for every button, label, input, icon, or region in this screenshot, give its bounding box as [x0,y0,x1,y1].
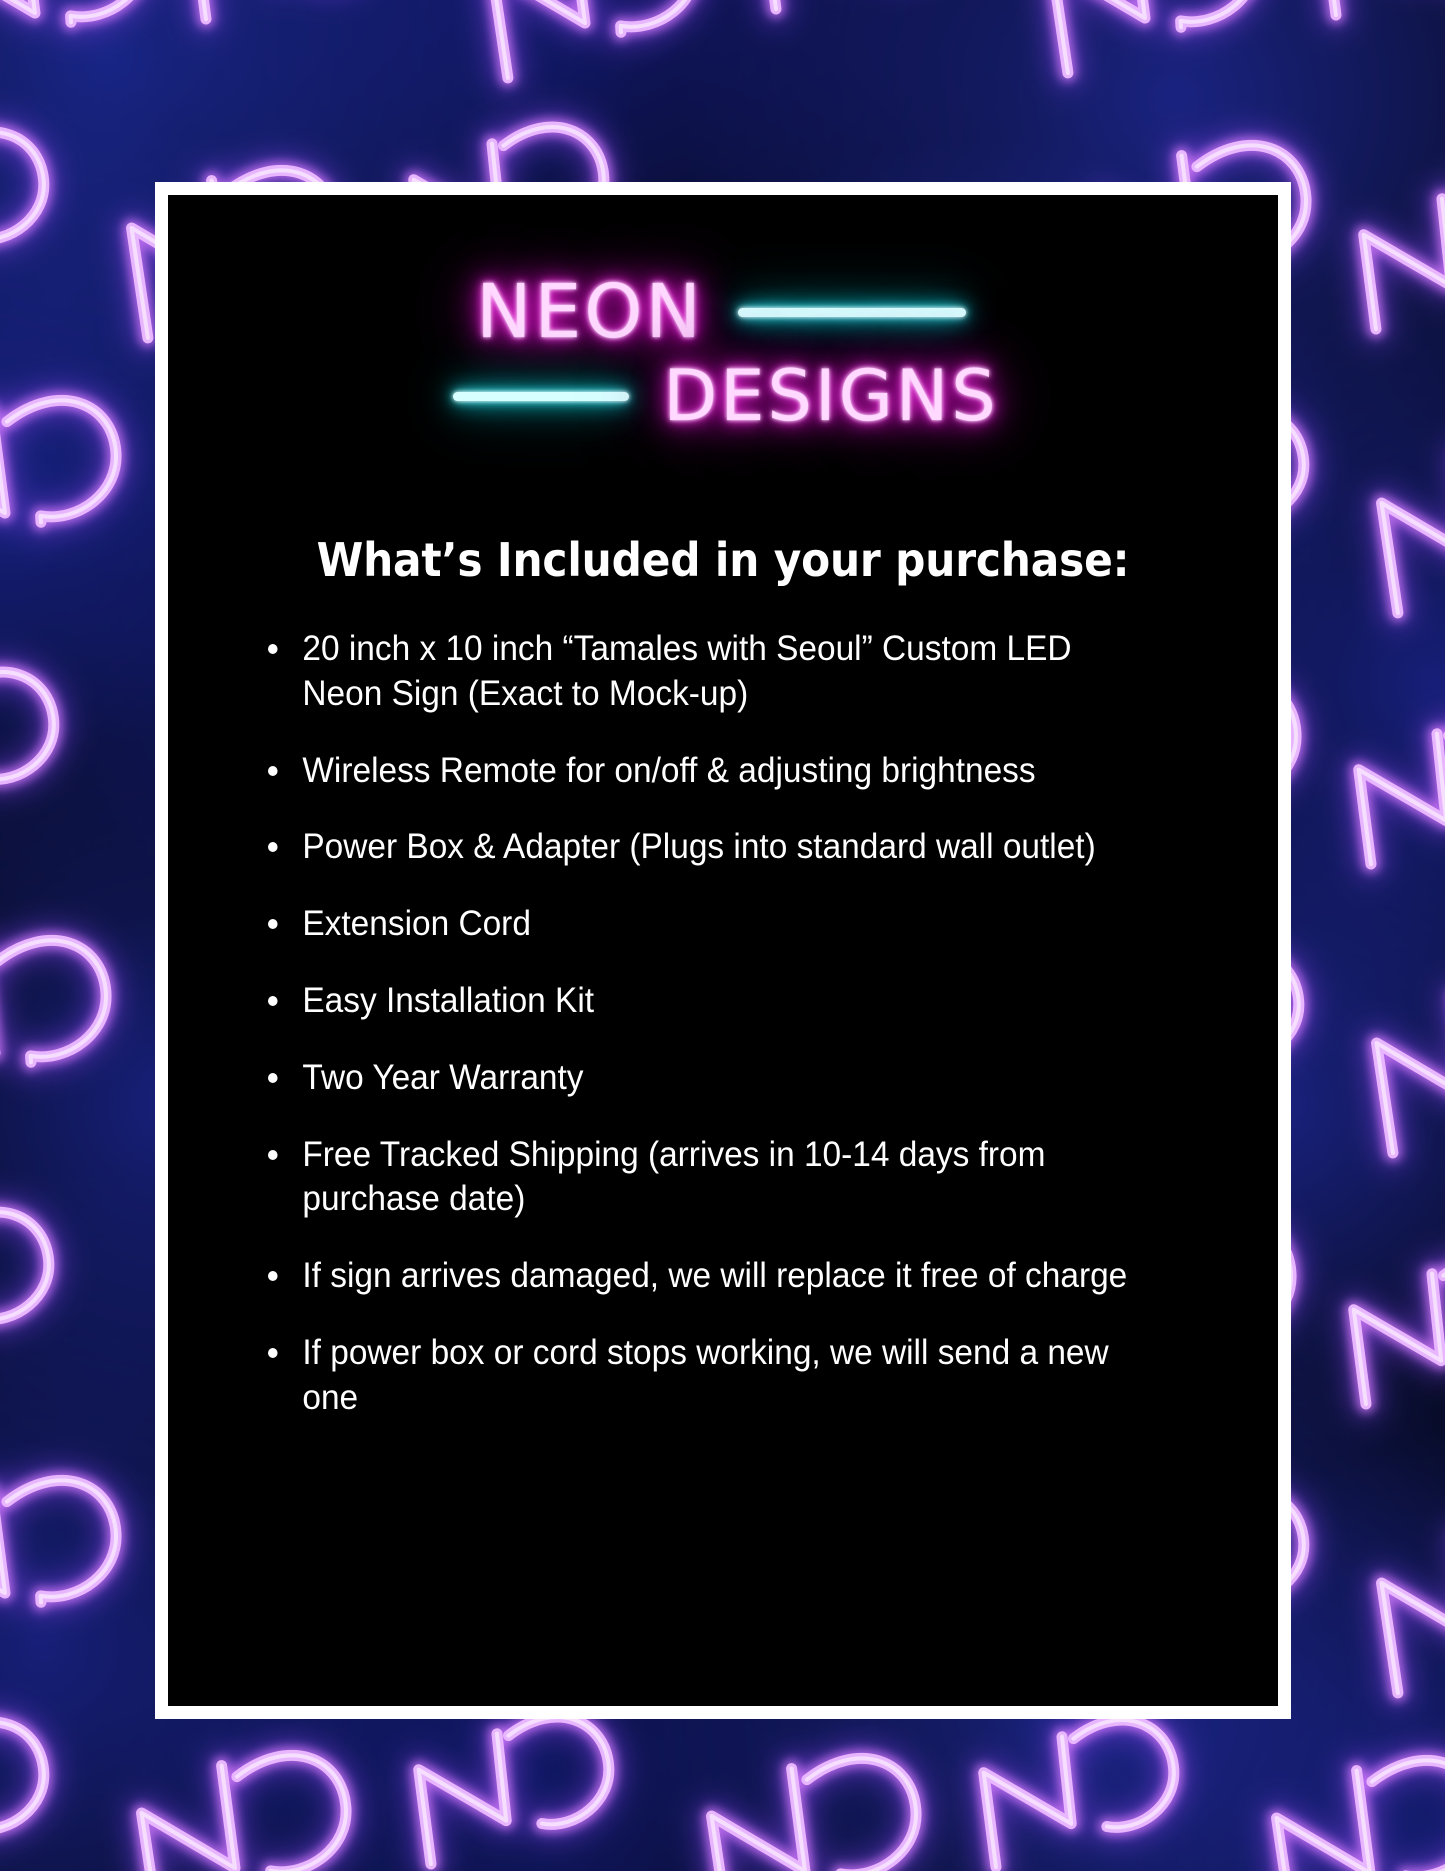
list-item-label: 20 inch x 10 inch “Tamales with Seoul” C… [302,627,1150,717]
list-item: If sign arrives damaged, we will replace… [268,1254,1150,1299]
page-title: What’s Included in your purchase: [212,533,1233,587]
bullet-dot-icon [268,1073,278,1083]
list-item-label: Free Tracked Shipping (arrives in 10-14 … [302,1133,1150,1223]
cyan-bar-bottom-icon [453,392,629,401]
logo-word-neon: NEON [476,275,704,349]
logo-row-top: NEON [168,275,1278,349]
list-item: 20 inch x 10 inch “Tamales with Seoul” C… [268,627,1150,717]
list-item-label: If sign arrives damaged, we will replace… [302,1254,1150,1299]
poster-card: NEON DESIGNS What’s Included in your pur… [168,195,1278,1706]
list-item: Free Tracked Shipping (arrives in 10-14 … [268,1133,1150,1223]
included-items-list: 20 inch x 10 inch “Tamales with Seoul” C… [268,627,1192,1421]
poster-white-frame: NEON DESIGNS What’s Included in your pur… [155,182,1291,1719]
list-item: Extension Cord [268,902,1150,947]
bullet-dot-icon [268,996,278,1006]
neon-designs-logo: NEON DESIGNS [168,257,1278,507]
list-item: Power Box & Adapter (Plugs into standard… [268,825,1150,870]
bullet-dot-icon [268,842,278,852]
list-item-label: If power box or cord stops working, we w… [302,1331,1150,1421]
bullet-dot-icon [268,1271,278,1281]
logo-word-designs: DESIGNS [663,361,998,431]
bullet-dot-icon [268,1150,278,1160]
list-item: Wireless Remote for on/off & adjusting b… [268,749,1150,794]
list-item: Easy Installation Kit [268,979,1150,1024]
bullet-dot-icon [268,1348,278,1358]
bullet-dot-icon [268,644,278,654]
list-item-label: Wireless Remote for on/off & adjusting b… [302,749,1150,794]
list-item-label: Two Year Warranty [302,1056,1150,1101]
list-item-label: Easy Installation Kit [302,979,1150,1024]
list-item: Two Year Warranty [268,1056,1150,1101]
list-item: If power box or cord stops working, we w… [268,1331,1150,1421]
cyan-bar-top-icon [738,308,966,317]
bullet-dot-icon [268,766,278,776]
list-item-label: Extension Cord [302,902,1150,947]
logo-row-bottom: DESIGNS [168,361,1278,431]
bullet-dot-icon [268,919,278,929]
list-item-label: Power Box & Adapter (Plugs into standard… [302,825,1150,870]
